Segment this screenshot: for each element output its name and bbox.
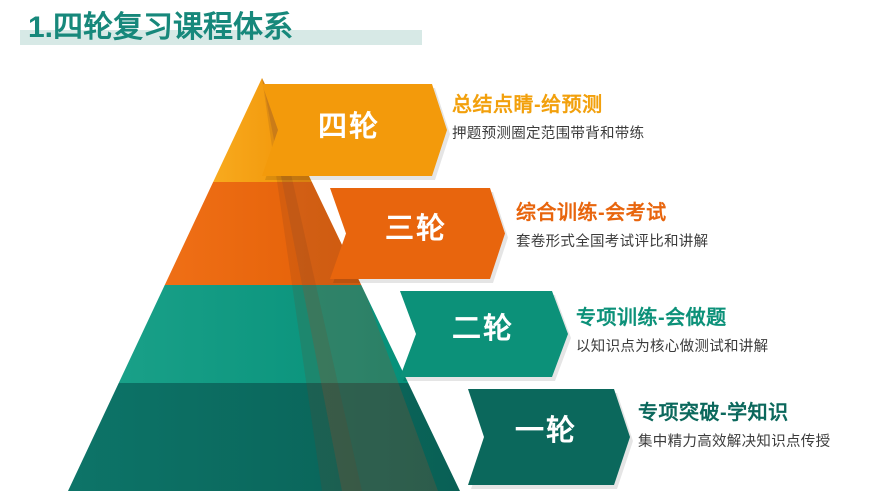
tier-heading-2: 专项训练-会做题 (576, 305, 768, 331)
tier-heading-1: 专项突破-学知识 (638, 400, 830, 426)
slide-canvas: 1.四轮复习课程体系 (0, 0, 889, 491)
tier-subtitle-4: 押题预测圈定范围带背和带练 (452, 122, 644, 146)
tier-subtitle-2: 以知识点为核心做测试和讲解 (576, 335, 768, 359)
tier-badge-label-3: 三轮 (385, 215, 447, 244)
tier-text-block-4: 总结点睛-给预测押题预测圈定范围带背和带练 (452, 92, 644, 146)
tier-badge-label-2: 二轮 (452, 315, 514, 344)
tier-badge-label-1: 一轮 (515, 417, 577, 446)
tier-text-block-3: 综合训练-会考试套卷形式全国考试评比和讲解 (516, 200, 708, 254)
tier-subtitle-3: 套卷形式全国考试评比和讲解 (516, 230, 708, 254)
tier-text-block-2: 专项训练-会做题以知识点为核心做测试和讲解 (576, 305, 768, 359)
tier-heading-3: 综合训练-会考试 (516, 200, 708, 226)
tier-heading-4: 总结点睛-给预测 (452, 92, 644, 118)
tier-subtitle-1: 集中精力高效解决知识点传授 (638, 430, 830, 454)
tier-badge-label-4: 四轮 (318, 113, 380, 142)
tier-text-block-1: 专项突破-学知识集中精力高效解决知识点传授 (638, 400, 830, 454)
